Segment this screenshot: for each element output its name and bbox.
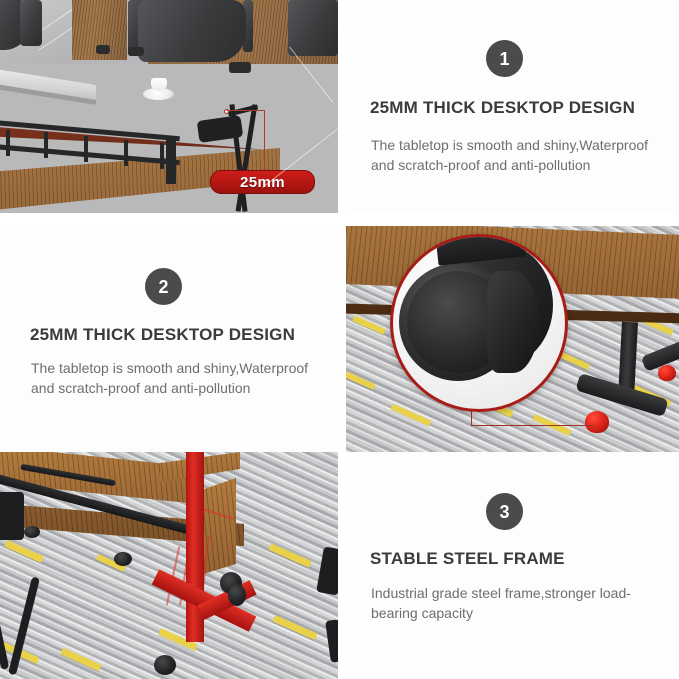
caster-wheel xyxy=(228,584,246,606)
chair-back xyxy=(288,0,338,56)
step-number-badge-2: 2 xyxy=(145,268,182,305)
infographic-sheet: 25mm 1 25MM THICK DESKTOP DESIGN The tab… xyxy=(0,0,679,679)
coffee-cup xyxy=(151,78,167,91)
feature-body-2: The tabletop is smooth and shiny,Waterpr… xyxy=(31,358,311,398)
leader-line-horizontal xyxy=(471,425,595,426)
rail-strut xyxy=(44,132,48,158)
feature-body-3: Industrial grade steel frame,stronger lo… xyxy=(371,583,651,623)
step-number-badge-1: 1 xyxy=(486,40,523,77)
rail-strut xyxy=(160,143,164,169)
rail-strut xyxy=(6,130,10,156)
table-leg-upright xyxy=(166,140,176,184)
photo-steel-frame xyxy=(0,452,338,679)
feature-panel-2: 2 25MM THICK DESKTOP DESIGN The tabletop… xyxy=(0,226,338,452)
measure-line-top xyxy=(227,110,265,111)
red-caster-wheel xyxy=(585,411,609,433)
chair-bracket xyxy=(128,47,144,56)
feature-title-3: STABLE STEEL FRAME xyxy=(370,549,565,569)
rail-strut xyxy=(124,140,128,166)
feature-panel-1: 1 25MM THICK DESKTOP DESIGN The tabletop… xyxy=(346,0,679,213)
feature-title-1: 25MM THICK DESKTOP DESIGN xyxy=(370,98,635,118)
measure-line-vertical xyxy=(264,110,265,172)
step-number-2: 2 xyxy=(158,278,168,296)
caster-wheel-side xyxy=(487,271,539,373)
feature-title-2: 25MM THICK DESKTOP DESIGN xyxy=(30,325,295,345)
caster-wheel-rear xyxy=(24,526,40,538)
chair-bracket xyxy=(96,45,110,54)
caster-wheel xyxy=(154,655,176,675)
step-number-3: 3 xyxy=(499,503,509,521)
rail-strut xyxy=(84,136,88,162)
modesty-rail xyxy=(0,144,180,166)
feature-panel-3: 3 STABLE STEEL FRAME Industrial grade st… xyxy=(346,452,679,679)
photo-conference-table: 25mm xyxy=(0,0,338,213)
red-caster-wheel-rear xyxy=(658,365,676,381)
caster-wheel-rear xyxy=(114,552,132,566)
photo-caster-closeup xyxy=(346,226,679,452)
step-number-badge-3: 3 xyxy=(486,493,523,530)
step-number-1: 1 xyxy=(499,50,509,68)
feature-body-1: The tabletop is smooth and shiny,Waterpr… xyxy=(371,135,651,175)
callout-badge-25mm: 25mm xyxy=(210,170,315,194)
magnifier-circle xyxy=(390,234,568,412)
chair-back xyxy=(20,0,42,46)
chair-back-main xyxy=(138,0,246,62)
chair-bracket xyxy=(229,62,251,73)
chair-body xyxy=(0,492,24,540)
